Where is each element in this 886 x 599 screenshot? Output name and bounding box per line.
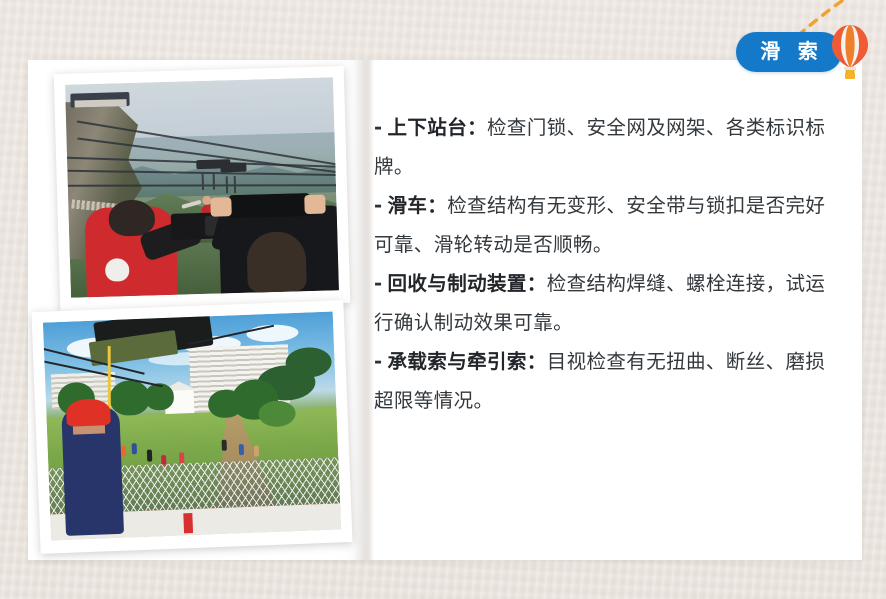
bullet-dash: - <box>374 194 383 217</box>
checklist-term: 回收与制动装置： <box>388 272 547 295</box>
hot-air-balloon-icon <box>830 24 870 82</box>
checklist-item: -回收与制动装置：检查结构焊缝、螺栓连接，试运行确认制动效果可靠。 <box>374 264 836 342</box>
slide-root: 滑 索 -上下站台：检查门锁、安全网及网架、各类标识标牌。 -滑车：检查结构有无… <box>0 0 886 599</box>
checklist-text-column: -上下站台：检查门锁、安全网及网架、各类标识标牌。 -滑车：检查结构有无变形、安… <box>374 108 836 420</box>
checklist-term: 承载索与牵引索： <box>388 350 547 373</box>
checklist-item: -承载索与牵引索：目视检查有无扭曲、断丝、磨损超限等情况。 <box>374 342 836 420</box>
bullet-dash: - <box>374 272 383 295</box>
checklist-item: -滑车：检查结构有无变形、安全带与锁扣是否完好可靠、滑轮转动是否顺畅。 <box>374 186 836 264</box>
bullet-dash: - <box>374 350 383 373</box>
photo-zipline-rider-mountain <box>65 77 339 297</box>
checklist-term: 滑车： <box>388 194 448 217</box>
topic-badge-pill[interactable]: 滑 索 <box>736 32 842 72</box>
photo-frame-zipline-rider <box>54 66 351 311</box>
topic-badge[interactable]: 滑 索 <box>722 0 886 96</box>
checklist-term: 上下站台： <box>388 116 488 139</box>
topic-badge-label: 滑 索 <box>754 42 824 62</box>
bullet-dash: - <box>374 116 383 139</box>
photo-frame-zipline-platform <box>31 300 352 554</box>
checklist-item: -上下站台：检查门锁、安全网及网架、各类标识标牌。 <box>374 108 836 186</box>
photo-zipline-platform-resort <box>43 312 341 541</box>
